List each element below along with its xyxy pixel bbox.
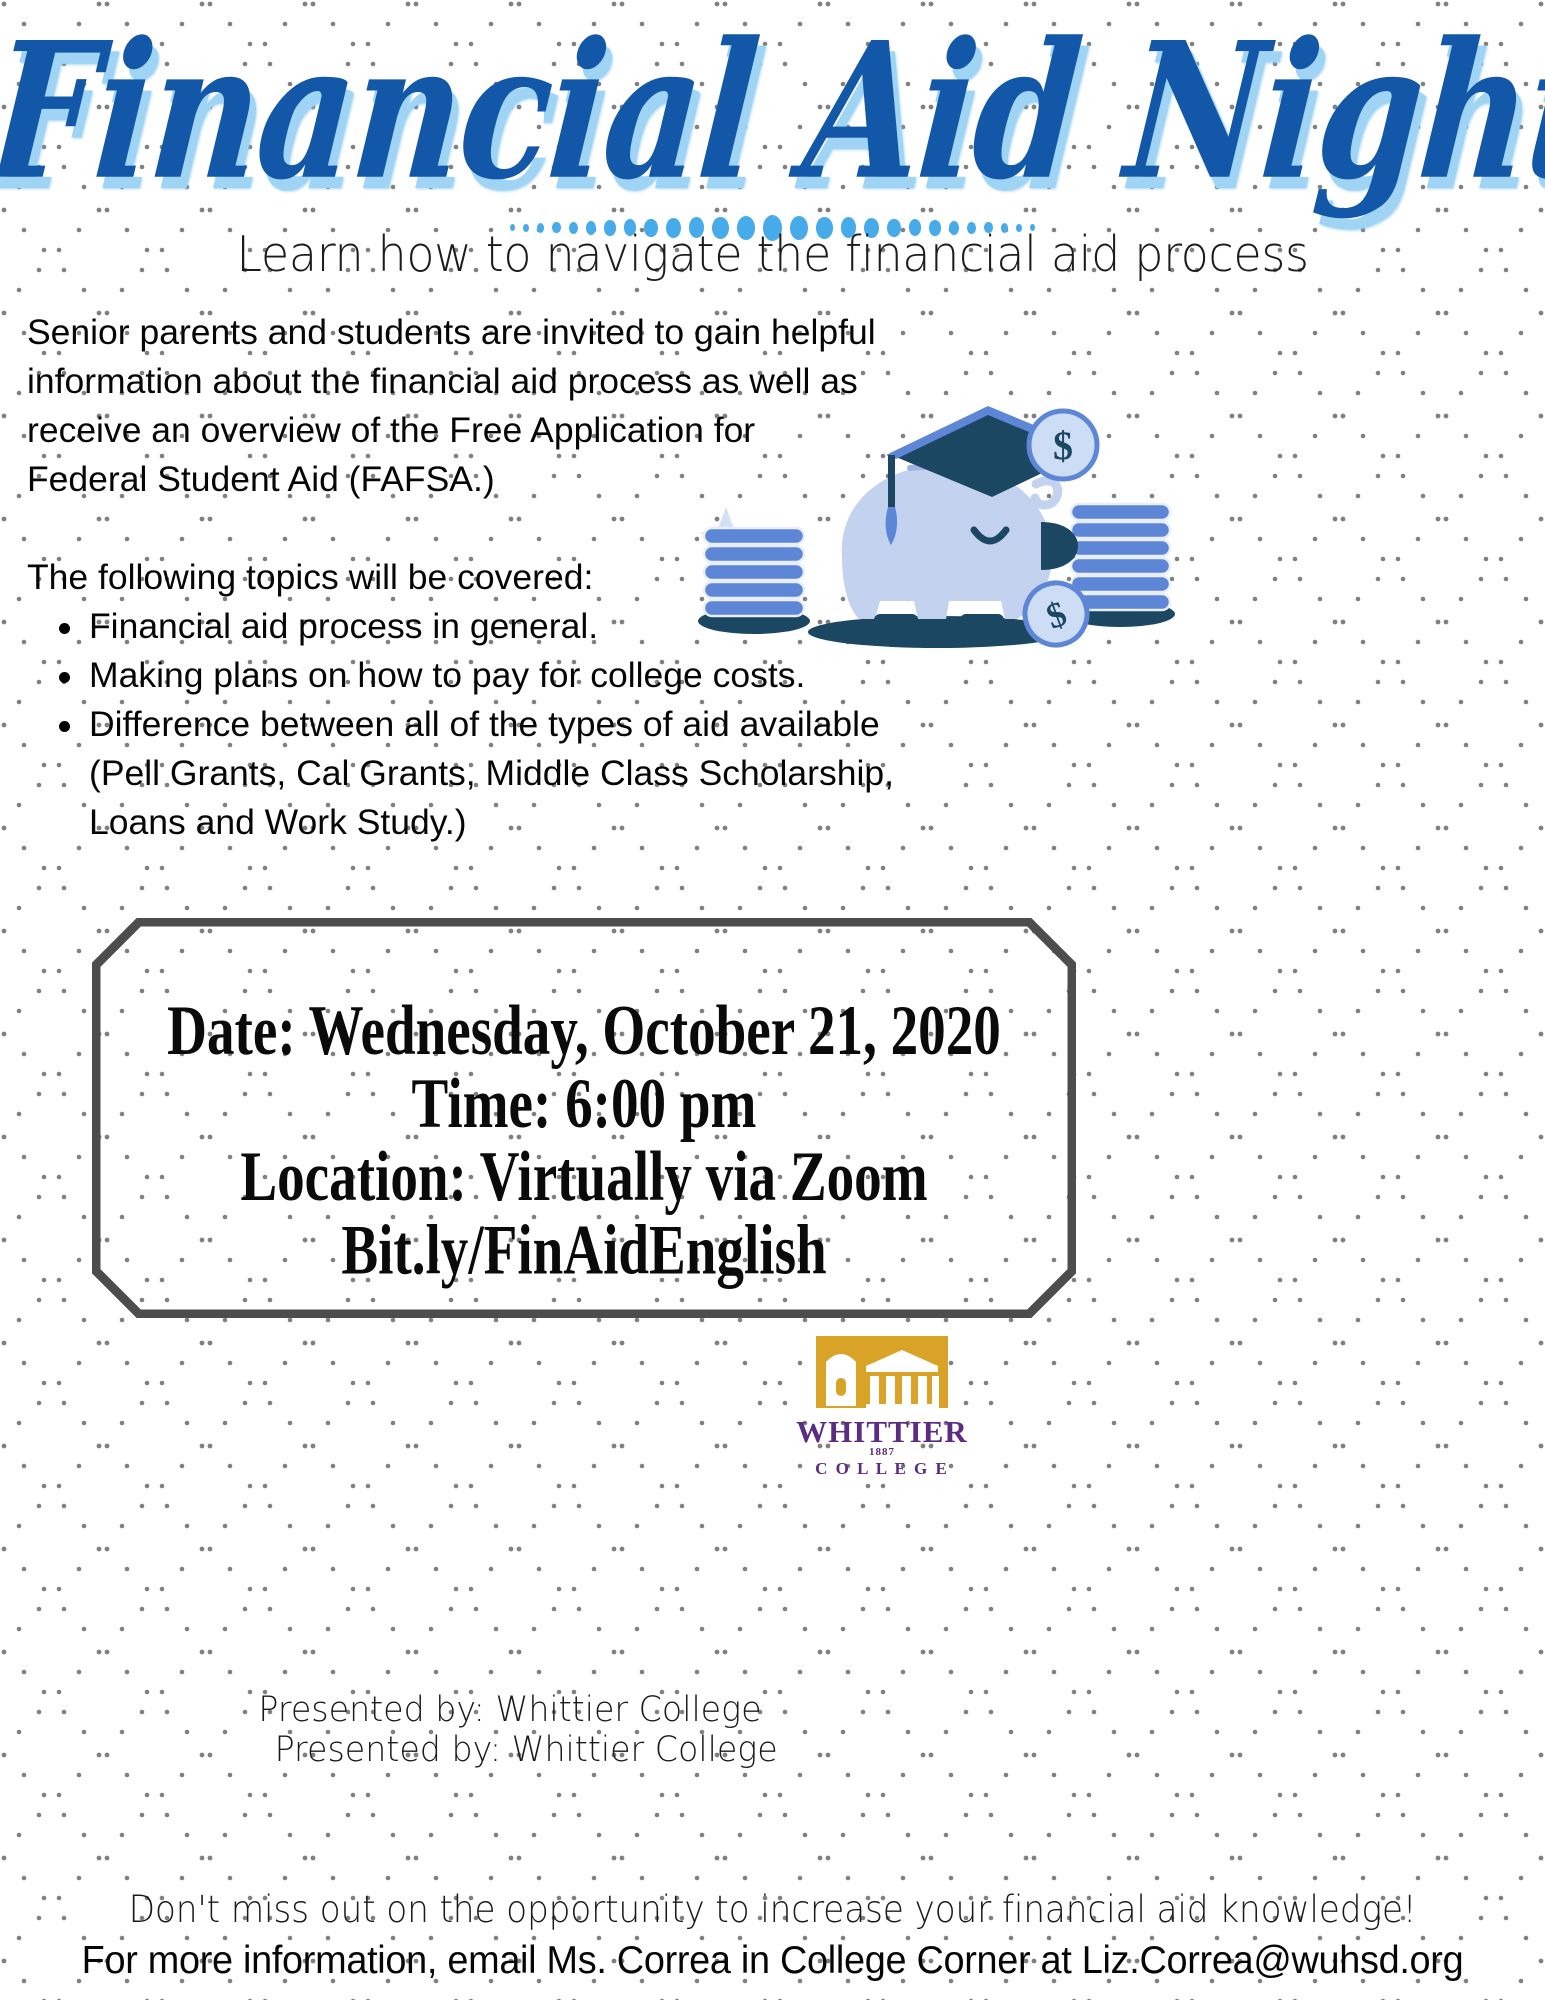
pig-body (842, 465, 1052, 619)
topic-text: Financial aid process in general. (89, 606, 598, 646)
list-item-continuation: Loans and Work Study.) (27, 798, 927, 847)
logo-wordmark: WHITTIER (796, 1414, 968, 1449)
event-date: Date: Wednesday, October 21, 2020 (117, 994, 1052, 1067)
piggy-bank-with-graduation-cap-icon: $ $ (688, 382, 1193, 667)
logo-year: 1887 (869, 1446, 895, 1458)
whittier-college-logo: WHITTIER 1887 C O L L E G E (782, 1328, 982, 1478)
footer-block: Don't miss out on the opportunity to inc… (0, 1885, 1545, 1987)
event-link[interactable]: Bit.ly/FinAidEnglish (117, 1214, 1052, 1287)
topic-text: Difference between all of the types of a… (89, 704, 880, 744)
dollar-coin-icon: $ (1029, 411, 1097, 479)
subtitle: Learn how to navigate the financial aid … (46, 226, 1498, 283)
event-details-box: Date: Wednesday, October 21, 2020 Time: … (92, 918, 1076, 1318)
presented-by-block: Presented by: Whittier College Presented… (26, 1690, 995, 1770)
svg-text:$: $ (1053, 423, 1073, 468)
logo-college: C O L L E G E (815, 1459, 949, 1478)
coin-stack-icon (698, 528, 810, 634)
list-item-continuation: (Pell Grants, Cal Grants, Middle Class S… (27, 749, 927, 798)
event-location: Location: Virtually via Zoom (117, 1140, 1052, 1213)
topic-text: Loans and Work Study.) (89, 802, 467, 842)
event-text-block: Date: Wednesday, October 21, 2020 Time: … (117, 994, 1052, 1287)
topic-text: (Pell Grants, Cal Grants, Middle Class S… (89, 753, 894, 793)
intro-line-1: Senior parents and students are invited … (27, 308, 927, 357)
list-item: Difference between all of the types of a… (27, 700, 927, 749)
flyer-title-block: Financial Aid Night (0, 18, 1545, 168)
presented-by-line-2: Presented by: Whittier College (26, 1730, 995, 1770)
building-icon (816, 1336, 948, 1409)
event-time: Time: 6:00 pm (117, 1067, 1052, 1140)
footer-line-2: For more information, email Ms. Correa i… (23, 1935, 1522, 1987)
footer-line-1: Don't miss out on the opportunity to inc… (54, 1885, 1491, 1935)
presented-by-line-1: Presented by: Whittier College (26, 1690, 995, 1730)
page-title: Financial Aid Night (0, 18, 1545, 206)
